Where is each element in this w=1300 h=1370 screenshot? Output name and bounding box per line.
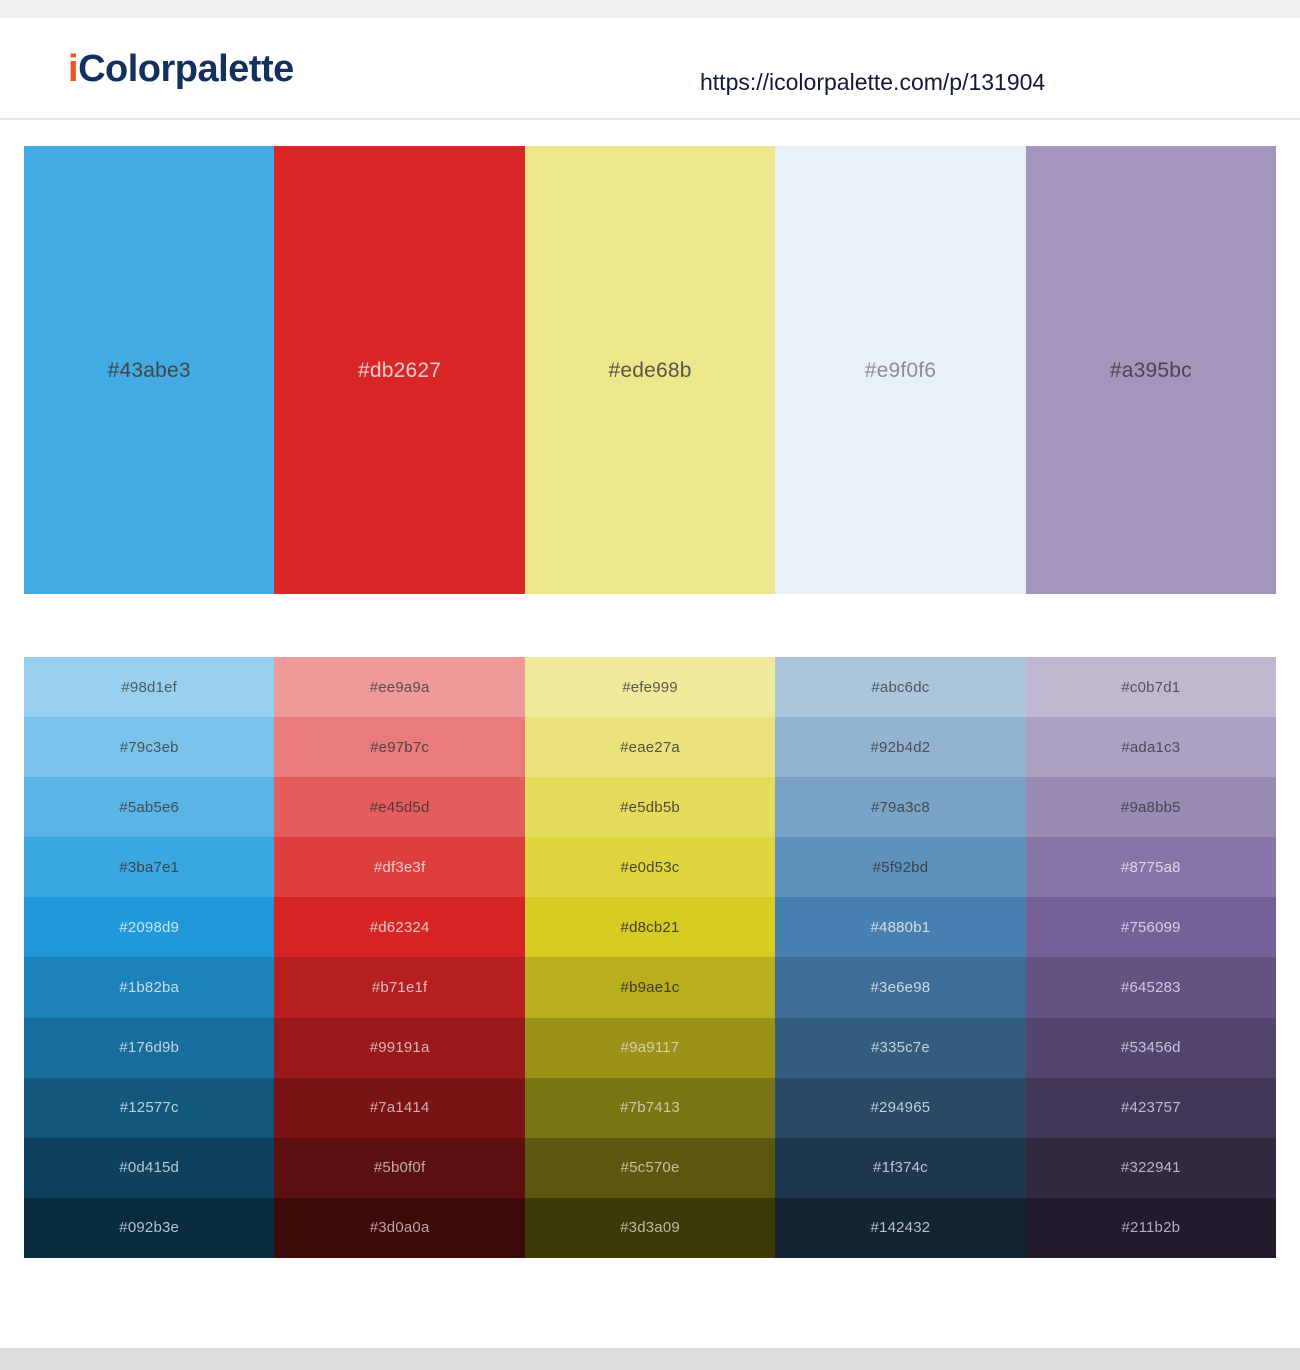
shade-swatch-label: #efe999 [622, 680, 678, 695]
site-logo[interactable]: iColorpalette [68, 50, 294, 88]
palette-swatch-label: #e9f0f6 [865, 360, 936, 381]
shade-swatch-label: #ee9a9a [370, 680, 430, 695]
shade-swatch[interactable]: #5c570e [525, 1138, 775, 1198]
shade-swatch[interactable]: #79a3c8 [775, 777, 1025, 837]
page-root: iColorpalette https://icolorpalette.com/… [0, 0, 1300, 1370]
shade-swatch[interactable]: #1f374c [775, 1138, 1025, 1198]
shade-swatch[interactable]: #92b4d2 [775, 717, 1025, 777]
shade-swatch-label: #1b82ba [119, 980, 179, 995]
shade-swatch[interactable]: #756099 [1026, 897, 1276, 957]
shade-swatch[interactable]: #4880b1 [775, 897, 1025, 957]
shade-swatch[interactable]: #eae27a [525, 717, 775, 777]
shade-column: #98d1ef#79c3eb#5ab5e6#3ba7e1#2098d9#1b82… [24, 657, 274, 1258]
shade-swatch[interactable]: #5ab5e6 [24, 777, 274, 837]
shade-swatch-label: #79c3eb [120, 740, 179, 755]
shade-swatch[interactable]: #335c7e [775, 1018, 1025, 1078]
main-palette-strip: #43abe3#db2627#ede68b#e9f0f6#a395bc [24, 146, 1276, 594]
palette-swatch[interactable]: #a395bc [1026, 146, 1276, 594]
shade-swatch-label: #abc6dc [871, 680, 929, 695]
shade-swatch[interactable]: #092b3e [24, 1198, 274, 1258]
page-url: https://icolorpalette.com/p/131904 [700, 71, 1045, 94]
shade-swatch-label: #4880b1 [871, 920, 931, 935]
shade-swatch-label: #98d1ef [121, 680, 177, 695]
shade-swatch[interactable]: #9a8bb5 [1026, 777, 1276, 837]
palette-swatch-label: #ede68b [608, 360, 691, 381]
shade-swatch-label: #3d3a09 [620, 1220, 680, 1235]
shade-swatch-label: #92b4d2 [871, 740, 931, 755]
bottom-gray-band [0, 1348, 1300, 1370]
shade-swatch[interactable]: #3e6e98 [775, 957, 1025, 1017]
palette-swatch-label: #43abe3 [108, 360, 191, 381]
palette-swatch[interactable]: #ede68b [525, 146, 775, 594]
site-header: iColorpalette https://icolorpalette.com/… [0, 18, 1300, 120]
shade-swatch[interactable]: #176d9b [24, 1018, 274, 1078]
shade-swatch-label: #2098d9 [119, 920, 179, 935]
palette-swatch[interactable]: #e9f0f6 [775, 146, 1025, 594]
palette-swatch[interactable]: #db2627 [274, 146, 524, 594]
shade-swatch[interactable]: #d8cb21 [525, 897, 775, 957]
shade-swatch-label: #eae27a [620, 740, 680, 755]
shade-swatch[interactable]: #e0d53c [525, 837, 775, 897]
shade-swatch-label: #c0b7d1 [1121, 680, 1180, 695]
shade-swatch-label: #8775a8 [1121, 860, 1181, 875]
shade-swatch[interactable]: #322941 [1026, 1138, 1276, 1198]
shade-column: #c0b7d1#ada1c3#9a8bb5#8775a8#756099#6452… [1026, 657, 1276, 1258]
shade-swatch[interactable]: #3d3a09 [525, 1198, 775, 1258]
top-gray-band [0, 0, 1300, 18]
shade-swatch-label: #294965 [871, 1100, 931, 1115]
shade-swatch-label: #7b7413 [620, 1100, 680, 1115]
shade-swatch[interactable]: #3d0a0a [274, 1198, 524, 1258]
shade-swatch[interactable]: #8775a8 [1026, 837, 1276, 897]
shade-swatch[interactable]: #e45d5d [274, 777, 524, 837]
shade-swatch[interactable]: #53456d [1026, 1018, 1276, 1078]
shade-swatch-label: #53456d [1121, 1040, 1181, 1055]
shade-column: #ee9a9a#e97b7c#e45d5d#df3e3f#d62324#b71e… [274, 657, 524, 1258]
shade-swatch[interactable]: #b9ae1c [525, 957, 775, 1017]
shade-swatch[interactable]: #b71e1f [274, 957, 524, 1017]
shade-swatch-label: #df3e3f [374, 860, 425, 875]
shade-swatch-label: #322941 [1121, 1160, 1181, 1175]
shade-swatch[interactable]: #7a1414 [274, 1078, 524, 1138]
shade-swatch-label: #e5db5b [620, 800, 680, 815]
shade-swatch-label: #12577c [120, 1100, 179, 1115]
shade-swatch[interactable]: #1b82ba [24, 957, 274, 1017]
shade-swatch-label: #9a9117 [621, 1040, 680, 1055]
shade-swatch-label: #99191a [370, 1040, 430, 1055]
shade-swatch-label: #5ab5e6 [119, 800, 179, 815]
shade-swatch[interactable]: #98d1ef [24, 657, 274, 717]
shade-swatch[interactable]: #3ba7e1 [24, 837, 274, 897]
shade-swatch-label: #d8cb21 [621, 920, 680, 935]
shade-swatch-label: #092b3e [119, 1220, 179, 1235]
shade-swatch[interactable]: #645283 [1026, 957, 1276, 1017]
shade-swatch[interactable]: #142432 [775, 1198, 1025, 1258]
shade-swatch-label: #423757 [1121, 1100, 1181, 1115]
shade-column: #efe999#eae27a#e5db5b#e0d53c#d8cb21#b9ae… [525, 657, 775, 1258]
shade-swatch-label: #211b2b [1121, 1220, 1180, 1235]
shade-swatch-label: #e45d5d [370, 800, 430, 815]
shade-swatch[interactable]: #423757 [1026, 1078, 1276, 1138]
shade-swatch[interactable]: #d62324 [274, 897, 524, 957]
shade-swatch-label: #3ba7e1 [119, 860, 179, 875]
shade-swatch-label: #645283 [1121, 980, 1181, 995]
shade-swatch-label: #0d415d [119, 1160, 179, 1175]
shade-swatch[interactable]: #0d415d [24, 1138, 274, 1198]
logo-letter-i: i [68, 48, 78, 90]
shade-swatch[interactable]: #ee9a9a [274, 657, 524, 717]
shade-swatch-label: #1f374c [873, 1160, 928, 1175]
palette-swatch-label: #a395bc [1110, 360, 1192, 381]
logo-wordmark: Colorpalette [78, 48, 294, 90]
shade-swatch-label: #d62324 [370, 920, 430, 935]
shade-column: #abc6dc#92b4d2#79a3c8#5f92bd#4880b1#3e6e… [775, 657, 1025, 1258]
shade-swatch-label: #3d0a0a [370, 1220, 430, 1235]
shade-swatch[interactable]: #2098d9 [24, 897, 274, 957]
palette-swatch-label: #db2627 [358, 360, 441, 381]
shade-swatch-label: #756099 [1121, 920, 1181, 935]
shade-swatch-label: #e97b7c [370, 740, 429, 755]
shade-swatch[interactable]: #c0b7d1 [1026, 657, 1276, 717]
shade-swatch-label: #9a8bb5 [1121, 800, 1181, 815]
shade-swatch-label: #5c570e [621, 1160, 680, 1175]
shade-swatch-label: #7a1414 [370, 1100, 430, 1115]
shade-swatch-label: #e0d53c [621, 860, 680, 875]
shade-swatch-label: #ada1c3 [1121, 740, 1180, 755]
shade-swatch[interactable]: #abc6dc [775, 657, 1025, 717]
shade-swatch[interactable]: #e5db5b [525, 777, 775, 837]
shade-swatch[interactable]: #efe999 [525, 657, 775, 717]
shade-swatch-label: #79a3c8 [871, 800, 930, 815]
shade-swatch[interactable]: #e97b7c [274, 717, 524, 777]
shade-swatch-label: #5f92bd [873, 860, 929, 875]
shade-swatch[interactable]: #df3e3f [274, 837, 524, 897]
shade-swatch-label: #176d9b [119, 1040, 179, 1055]
shade-swatch-label: #142432 [871, 1220, 931, 1235]
shade-swatch[interactable]: #7b7413 [525, 1078, 775, 1138]
shade-swatch[interactable]: #211b2b [1026, 1198, 1276, 1258]
shade-swatch[interactable]: #99191a [274, 1018, 524, 1078]
shade-swatch-label: #3e6e98 [871, 980, 931, 995]
shade-swatch-label: #b9ae1c [621, 980, 680, 995]
shade-swatch[interactable]: #12577c [24, 1078, 274, 1138]
shade-swatch[interactable]: #5f92bd [775, 837, 1025, 897]
shade-swatch-label: #5b0f0f [374, 1160, 425, 1175]
shade-swatch[interactable]: #5b0f0f [274, 1138, 524, 1198]
shade-swatch-label: #335c7e [871, 1040, 930, 1055]
shade-swatch[interactable]: #ada1c3 [1026, 717, 1276, 777]
palette-swatch[interactable]: #43abe3 [24, 146, 274, 594]
shades-grid: #98d1ef#79c3eb#5ab5e6#3ba7e1#2098d9#1b82… [24, 657, 1276, 1258]
shade-swatch[interactable]: #9a9117 [525, 1018, 775, 1078]
shade-swatch-label: #b71e1f [372, 980, 428, 995]
shade-swatch[interactable]: #294965 [775, 1078, 1025, 1138]
shade-swatch[interactable]: #79c3eb [24, 717, 274, 777]
